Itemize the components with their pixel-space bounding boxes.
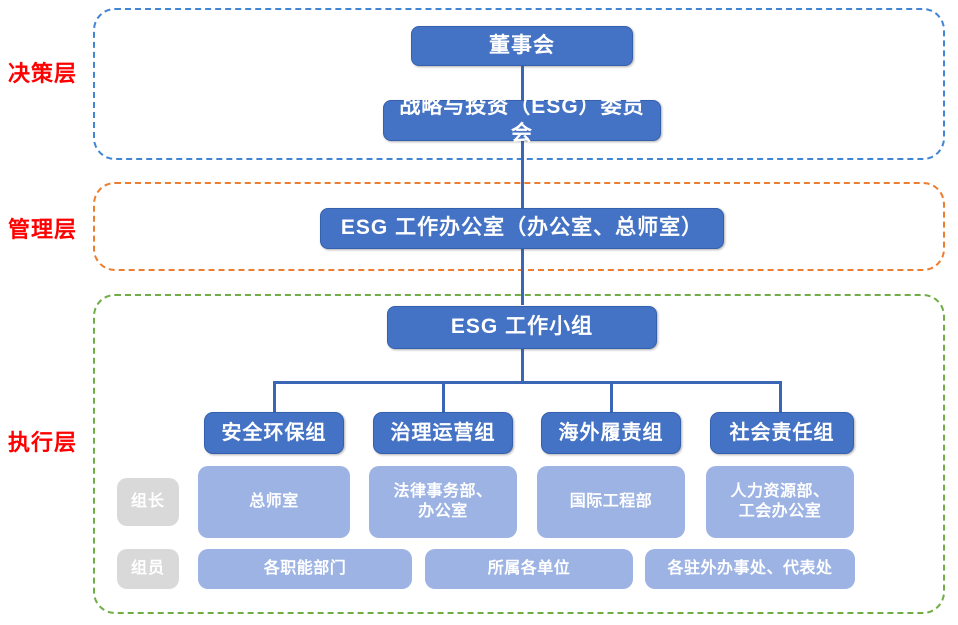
- leader-cell-group-3[interactable]: 国际工程部: [537, 466, 685, 538]
- layer-label-decision: 决策层: [8, 56, 77, 88]
- node-committee[interactable]: 战略与投资（ESG）委员会: [383, 100, 661, 141]
- node-group-2-label: 治理运营组: [391, 421, 496, 446]
- connector-committee-to-office: [521, 140, 524, 209]
- connector-bus-to-group-3: [610, 381, 613, 413]
- connector-bus-horizontal: [273, 381, 779, 384]
- node-group-4-label: 社会责任组: [730, 421, 835, 446]
- row-label-leader-text: 组长: [131, 492, 165, 512]
- row-label-member-text: 组员: [131, 559, 165, 579]
- org-chart-canvas: 决策层 管理层 执行层 董事会 战略与投资（ESG）委员会 ESG 工作办公室（…: [0, 0, 958, 625]
- node-board[interactable]: 董事会: [411, 26, 633, 66]
- node-group-1-label: 安全环保组: [222, 421, 327, 446]
- connector-workgroup-to-bus: [521, 348, 524, 383]
- layer-label-execution: 执行层: [8, 425, 77, 457]
- connector-bus-to-group-2: [442, 381, 445, 413]
- member-cell-group-1-label: 各职能部门: [264, 559, 347, 579]
- leader-cell-group-1[interactable]: 总师室: [198, 466, 350, 538]
- row-label-member: 组员: [117, 549, 179, 589]
- node-group-2[interactable]: 治理运营组: [373, 412, 513, 454]
- member-cell-group-2-label: 所属各单位: [488, 559, 571, 579]
- connector-bus-to-group-4: [779, 381, 782, 413]
- member-cell-group-3-label: 各驻外办事处、代表处: [667, 559, 832, 579]
- leader-cell-group-4[interactable]: 人力资源部、 工会办公室: [706, 466, 854, 538]
- leader-cell-group-4-label: 人力资源部、 工会办公室: [730, 482, 829, 522]
- layer-label-management: 管理层: [8, 212, 77, 244]
- node-esg-office[interactable]: ESG 工作办公室（办公室、总师室）: [320, 208, 724, 249]
- member-cell-group-1[interactable]: 各职能部门: [198, 549, 412, 589]
- node-group-4[interactable]: 社会责任组: [710, 412, 854, 454]
- leader-cell-group-1-label: 总师室: [249, 492, 299, 512]
- leader-cell-group-2[interactable]: 法律事务部、 办公室: [369, 466, 517, 538]
- node-group-1[interactable]: 安全环保组: [204, 412, 344, 454]
- node-board-label: 董事会: [489, 33, 555, 59]
- leader-cell-group-2-label: 法律事务部、 办公室: [393, 482, 492, 522]
- node-group-3-label: 海外履责组: [559, 421, 664, 446]
- row-label-leader: 组长: [117, 478, 179, 526]
- member-cell-group-2[interactable]: 所属各单位: [425, 549, 633, 589]
- node-esg-workgroup[interactable]: ESG 工作小组: [387, 306, 657, 349]
- member-cell-group-3[interactable]: 各驻外办事处、代表处: [645, 549, 855, 589]
- node-esg-office-label: ESG 工作办公室（办公室、总师室）: [341, 215, 703, 241]
- connector-office-to-workgroup: [521, 248, 524, 305]
- connector-bus-to-group-1: [273, 381, 276, 413]
- node-group-3[interactable]: 海外履责组: [541, 412, 681, 454]
- node-committee-label: 战略与投资（ESG）委员会: [390, 94, 654, 147]
- node-esg-workgroup-label: ESG 工作小组: [451, 314, 593, 340]
- leader-cell-group-3-label: 国际工程部: [570, 492, 653, 512]
